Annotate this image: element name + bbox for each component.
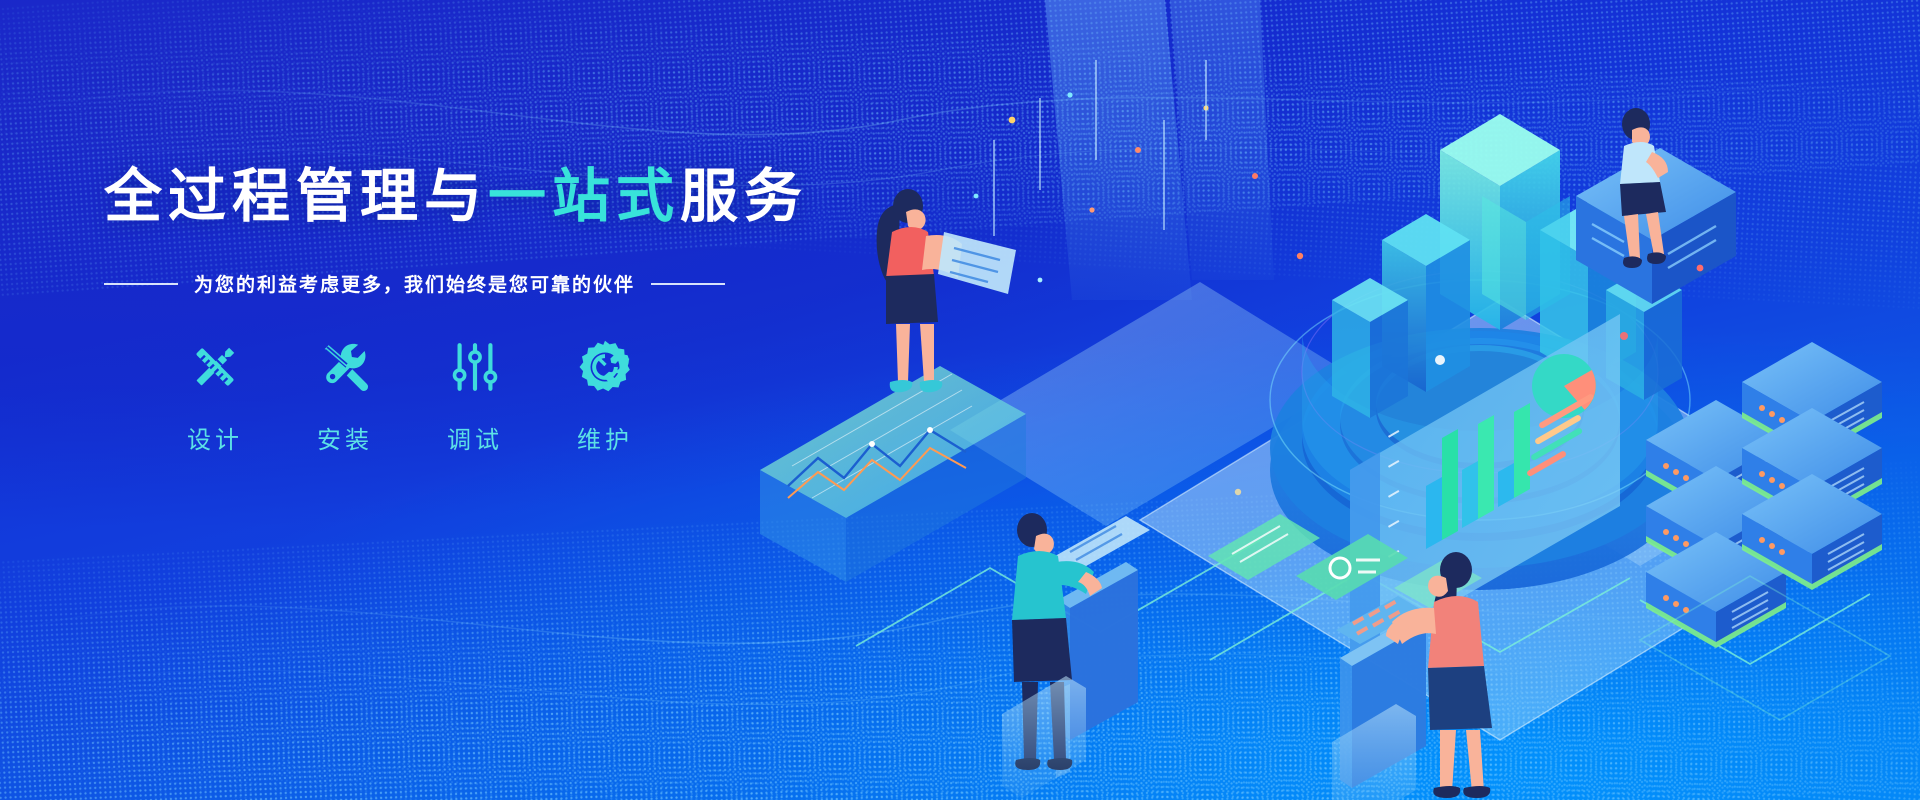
service-item-design[interactable]: 设计 xyxy=(150,338,280,455)
hero-illustration xyxy=(740,0,1920,800)
sliders-icon xyxy=(446,338,504,396)
title-part-accent: 一站式 xyxy=(488,164,680,229)
light-beams xyxy=(1045,0,1274,300)
isometric-scene xyxy=(740,0,1920,800)
woman-reading-document xyxy=(877,189,1016,392)
service-item-maintenance[interactable]: 维护 xyxy=(540,338,670,455)
gear-wrench-icon xyxy=(576,338,634,396)
page-subtitle: 为您的利益考虑更多，我们始终是您可靠的伙伴 xyxy=(194,270,635,297)
service-item-install[interactable]: 安装 xyxy=(280,338,410,455)
service-label-maintenance: 维护 xyxy=(577,420,633,455)
line-chart-screen xyxy=(760,366,1026,582)
service-label-debug: 调试 xyxy=(447,420,503,455)
page-title: 全过程管理与一站式服务 xyxy=(104,168,808,226)
subtitle-row: 为您的利益考虑更多，我们始终是您可靠的伙伴 xyxy=(104,270,725,297)
hero-text-block: 全过程管理与一站式服务 为您的利益考虑更多，我们始终是您可靠的伙伴 xyxy=(0,0,820,800)
pencil-ruler-icon xyxy=(186,338,244,396)
hero-banner: 全过程管理与一站式服务 为您的利益考虑更多，我们始终是您可靠的伙伴 xyxy=(0,0,1920,800)
service-list: 设计 安装 xyxy=(150,338,670,455)
service-label-design: 设计 xyxy=(187,420,243,455)
service-item-debug[interactable]: 调试 xyxy=(410,338,540,455)
server-rack-right xyxy=(1742,342,1882,590)
wrench-screwdriver-icon xyxy=(316,338,374,396)
rule-left xyxy=(104,283,178,285)
service-label-install: 安装 xyxy=(317,420,373,455)
rule-right xyxy=(651,283,725,285)
title-part-1: 全过程管理与 xyxy=(104,164,488,229)
